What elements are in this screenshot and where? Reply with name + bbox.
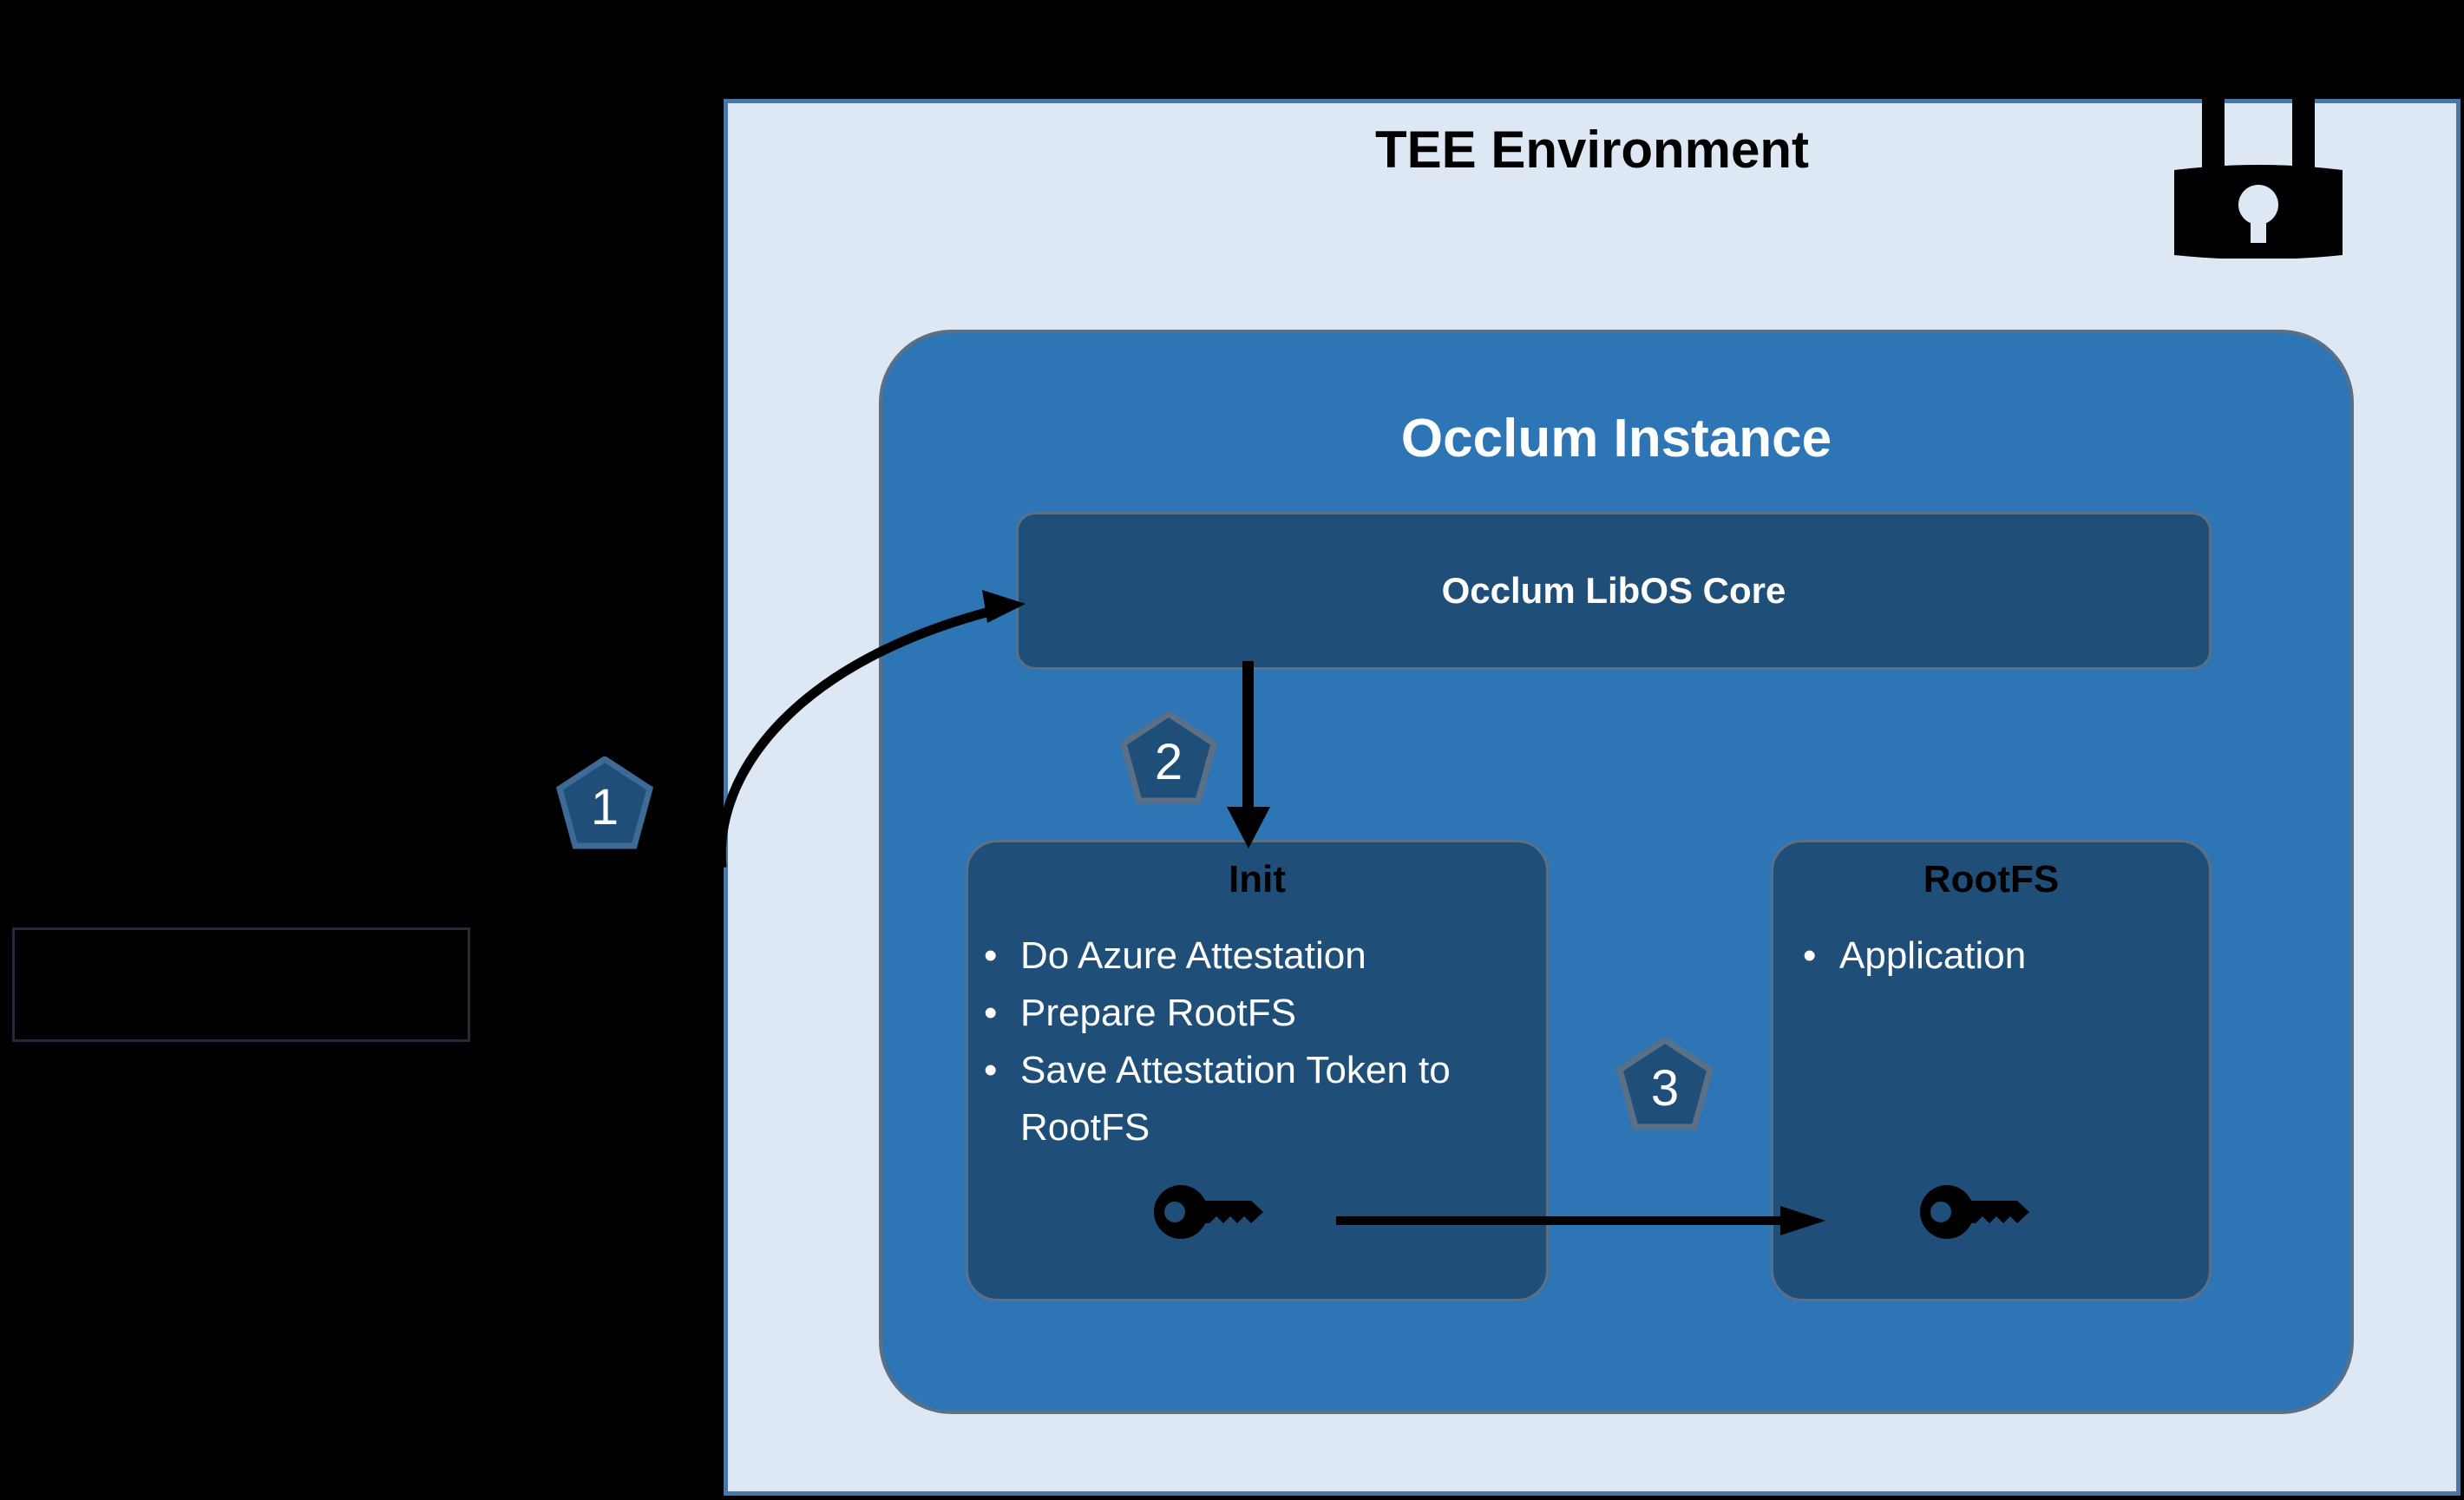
bullet-glyph: • [984,927,1020,985]
empty-outline-box [12,927,470,1042]
bullet-glyph: • [984,985,1020,1042]
bullet-glyph: • [1803,927,1839,985]
step-badge-2: 2 [1117,711,1220,809]
step-badge-3-number: 3 [1614,1038,1716,1135]
step-badge-3: 3 [1614,1038,1716,1135]
list-item: • Do Azure Attestation [984,927,1527,985]
list-item: • Prepare RootFS [984,985,1527,1042]
rootfs-panel-title: RootFS [1773,858,2209,901]
key-icon [1920,1185,2033,1239]
list-item: • Save Attestation Token to RootFS [984,1042,1527,1156]
list-item-label: Do Azure Attestation [1020,927,1527,985]
key-icon [1154,1185,1267,1239]
occlum-instance-title: Occlum Instance [879,408,2354,469]
step-badge-1: 1 [554,757,656,854]
step-badge-2-number: 2 [1117,711,1220,809]
bullet-glyph: • [984,1042,1020,1099]
padlock-icon [2167,94,2349,259]
list-item-label: Save Attestation Token to RootFS [1020,1042,1527,1156]
list-item: • Application [1803,927,2190,985]
diagram-canvas: TEE Environment Occlum Instance Occlum L… [0,0,2464,1500]
rootfs-bullet-list: • Application [1773,927,2209,985]
occlum-libos-core-box: Occlum LibOS Core [1016,512,2212,670]
init-bullet-list: • Do Azure Attestation • Prepare RootFS … [968,927,1546,1156]
list-item-label: Application [1839,927,2190,985]
step-badge-1-number: 1 [554,757,656,854]
occlum-libos-core-label: Occlum LibOS Core [1442,570,1786,612]
list-item-label: Prepare RootFS [1020,985,1527,1042]
init-panel-title: Init [968,858,1546,901]
